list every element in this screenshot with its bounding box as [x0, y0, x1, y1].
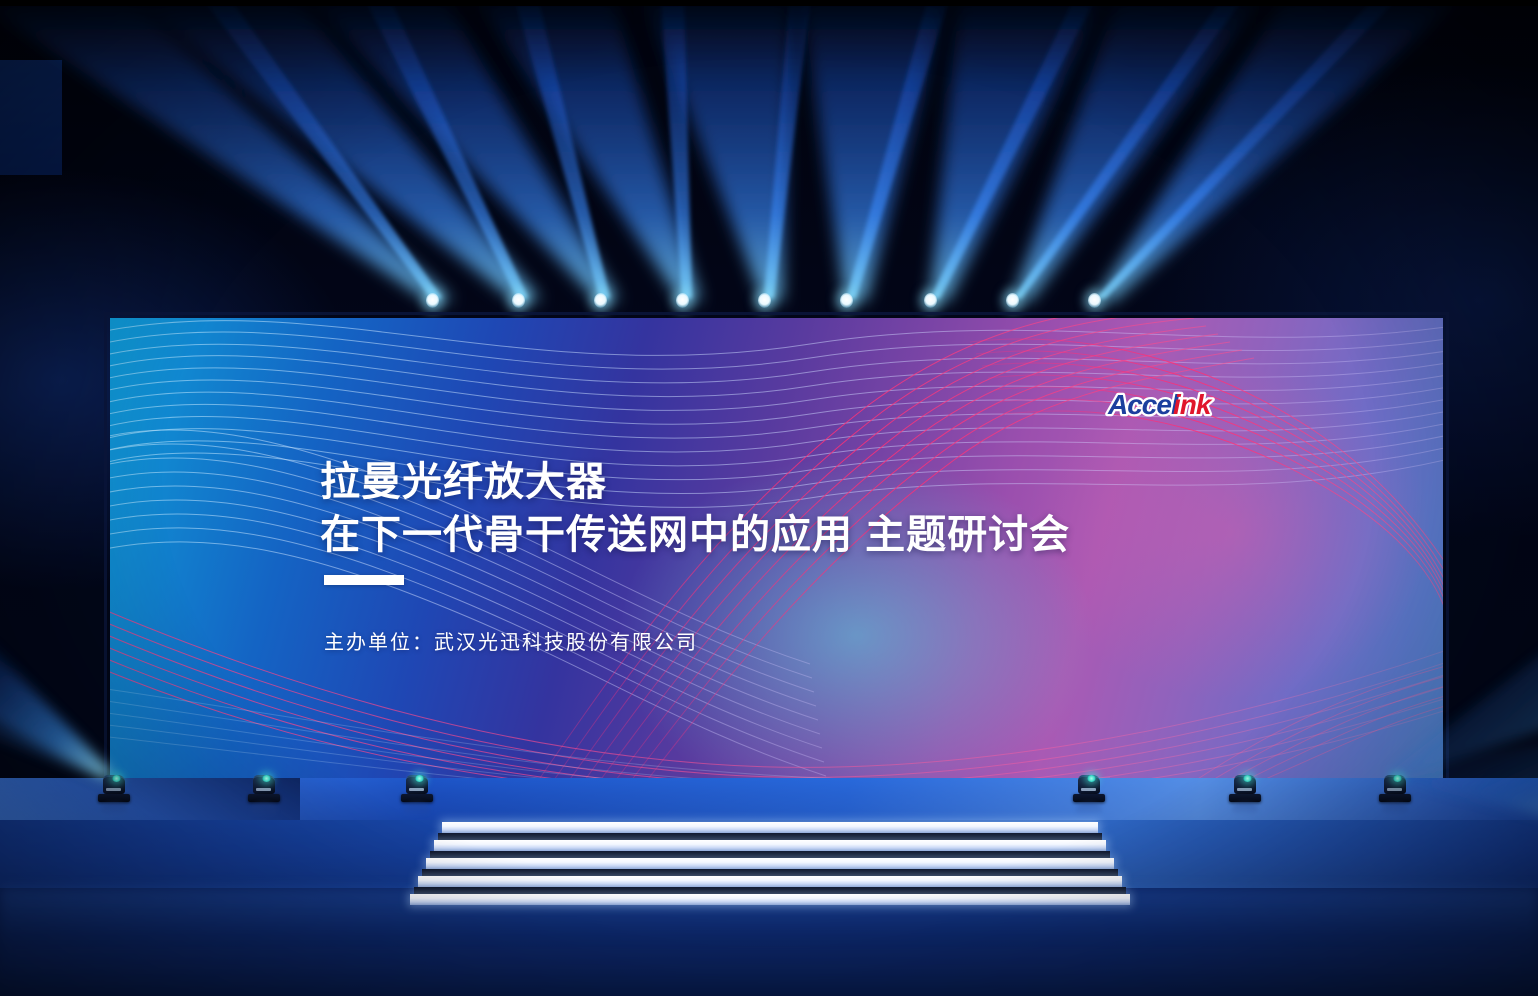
fixture-base — [1073, 794, 1105, 802]
fixture-reflection-3 — [404, 802, 430, 816]
overhead-lamp-8 — [1006, 293, 1019, 308]
fixture-reflection-6 — [1382, 802, 1408, 816]
fixture-lens — [1393, 775, 1402, 782]
fixture-reflection-5 — [1232, 802, 1258, 816]
event-title: 拉曼光纤放大器 在下一代骨干传送网中的应用 主题研讨会 — [320, 456, 1070, 562]
overhead-beam-group — [0, 0, 1538, 330]
accelink-logo: Accel ink Accel ink — [1105, 388, 1255, 420]
fixture-reflection-4 — [1076, 802, 1102, 816]
fixture-reflection-1 — [101, 802, 127, 816]
fixture-base — [248, 794, 280, 802]
overhead-lamp-9 — [1088, 293, 1101, 308]
overhead-lamp-3 — [594, 293, 607, 308]
title-divider-bar — [324, 575, 404, 585]
fixture-base — [1229, 794, 1261, 802]
overhead-lamp-4 — [676, 293, 689, 308]
overhead-lamp-2 — [512, 293, 525, 308]
fixture-lens — [1243, 775, 1252, 782]
fixture-slot — [256, 788, 271, 791]
fixture-lens — [262, 775, 271, 782]
stage-scene: 拉曼光纤放大器 在下一代骨干传送网中的应用 主题研讨会 主办单位：武汉光迅科技股… — [0, 0, 1538, 996]
fixture-slot — [1081, 788, 1096, 791]
moving-head-fixture-6 — [1378, 772, 1412, 802]
fixture-slot — [1237, 788, 1252, 791]
accelink-logo-accel: Accel — [1107, 389, 1180, 420]
fixture-lens — [112, 775, 121, 782]
moving-head-fixture-3 — [400, 772, 434, 802]
moving-head-fixture-2 — [247, 772, 281, 802]
event-title-line-2: 在下一代骨干传送网中的应用 主题研讨会 — [320, 509, 1070, 562]
fixture-lens — [415, 775, 424, 782]
event-title-line-1: 拉曼光纤放大器 — [320, 456, 1070, 509]
overhead-lamp-5 — [758, 293, 771, 308]
overhead-lamp-7 — [924, 293, 937, 308]
overhead-lamp-6 — [840, 293, 853, 308]
fixture-base — [401, 794, 433, 802]
top-edge-mask — [0, 0, 1538, 6]
moving-head-fixture-5 — [1228, 772, 1262, 802]
fixture-base — [98, 794, 130, 802]
fixture-base — [1379, 794, 1411, 802]
overhead-lamp-1 — [426, 293, 439, 308]
moving-head-fixture-1 — [97, 772, 131, 802]
fixture-reflection-2 — [251, 802, 277, 816]
moving-head-fixture-4 — [1072, 772, 1106, 802]
fixture-lens — [1087, 775, 1096, 782]
floor-beam-group — [0, 620, 1538, 980]
fixture-slot — [409, 788, 424, 791]
accelink-logo-ink: ink — [1173, 389, 1213, 420]
fixture-slot — [1387, 788, 1402, 791]
fixture-slot — [106, 788, 121, 791]
